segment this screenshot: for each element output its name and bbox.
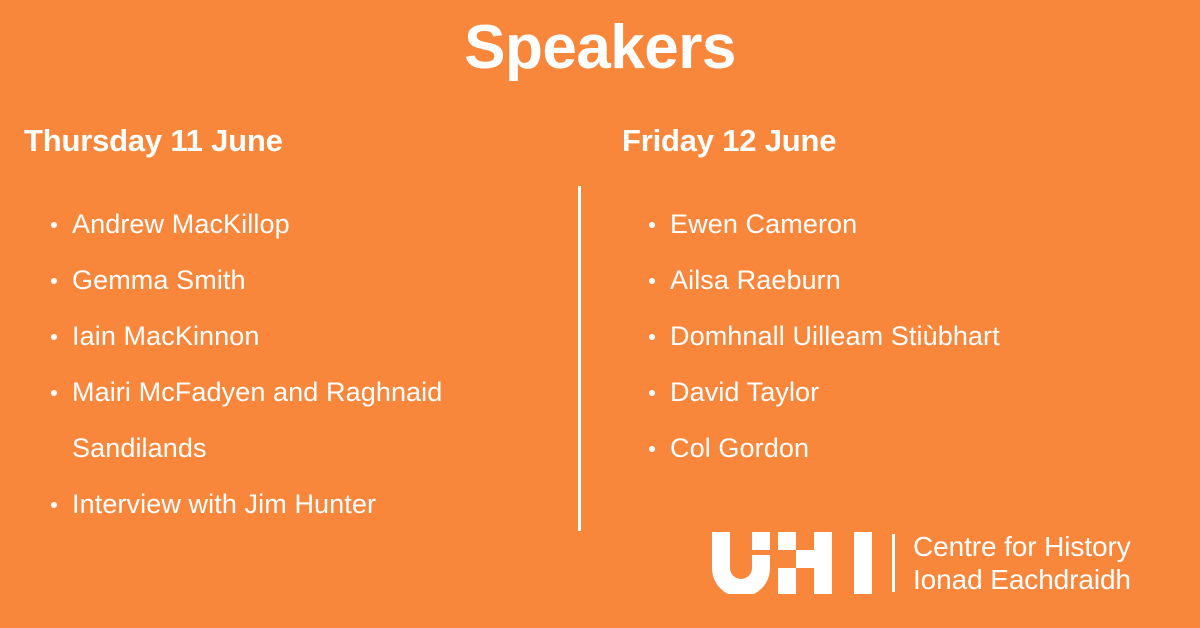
logo-text: Centre for History Ionad Eachdraidh xyxy=(913,530,1131,596)
list-item: David Taylor xyxy=(622,364,1162,420)
logo-divider xyxy=(892,534,895,592)
uhi-logo-mark-icon xyxy=(712,532,875,594)
list-item: Mairi McFadyen and Raghnaid Sandilands xyxy=(24,364,544,476)
list-item: Domhnall Uilleam Stiùbhart xyxy=(622,308,1162,364)
uhi-logo: Centre for History Ionad Eachdraidh xyxy=(712,528,1131,598)
list-item: Gemma Smith xyxy=(24,252,544,308)
column-heading-friday: Friday 12 June xyxy=(622,124,1162,158)
list-item: Andrew MacKillop xyxy=(24,196,544,252)
list-item: Interview with Jim Hunter xyxy=(24,476,544,532)
column-friday: Friday 12 June Ewen Cameron Ailsa Raebur… xyxy=(622,124,1162,476)
page-title: Speakers xyxy=(0,17,1200,79)
speaker-list-thursday: Andrew MacKillop Gemma Smith Iain MacKin… xyxy=(24,196,544,532)
column-thursday: Thursday 11 June Andrew MacKillop Gemma … xyxy=(24,124,544,532)
column-heading-thursday: Thursday 11 June xyxy=(24,124,544,158)
speakers-poster: Speakers Thursday 11 June Andrew MacKill… xyxy=(0,0,1200,628)
list-item: Iain MacKinnon xyxy=(24,308,544,364)
list-item: Col Gordon xyxy=(622,420,1162,476)
logo-text-line1: Centre for History xyxy=(913,530,1131,563)
speaker-list-friday: Ewen Cameron Ailsa Raeburn Domhnall Uill… xyxy=(622,196,1162,476)
column-divider xyxy=(578,186,581,531)
list-item: Ailsa Raeburn xyxy=(622,252,1162,308)
logo-text-line2: Ionad Eachdraidh xyxy=(913,563,1131,596)
list-item: Ewen Cameron xyxy=(622,196,1162,252)
